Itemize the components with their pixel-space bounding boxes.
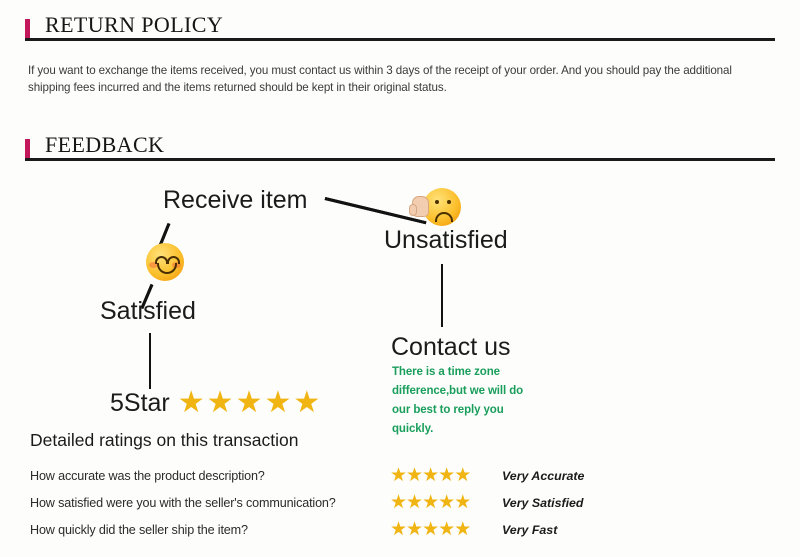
rating-stars: ★★★★★ [390,520,502,540]
return-policy-divider [25,38,775,41]
five-star-label: 5Star [110,389,170,418]
detailed-ratings-title: Detailed ratings on this transaction [30,430,298,451]
star-icon: ★ [422,465,438,486]
return-policy-body: If you want to exchange the items receiv… [28,62,740,96]
flow-connector-unsatisfied-to-contact [441,264,443,327]
detailed-ratings-table: How accurate was the product description… [30,462,650,543]
flow-node-receive-item: Receive item [163,186,308,215]
timezone-note: There is a time zone difference,but we w… [392,363,532,439]
rating-stars: ★★★★★ [390,466,502,486]
star-icon: ★ [207,388,234,418]
rating-question: How quickly did the seller ship the item… [30,523,390,537]
star-icon: ★ [178,388,205,418]
smiling-face-icon [146,243,184,281]
star-icon: ★ [438,519,454,540]
rating-stars: ★★★★★ [390,493,502,513]
table-row: How quickly did the seller ship the item… [30,516,650,543]
feedback-page: RETURN POLICY If you want to exchange th… [0,0,800,557]
star-icon: ★ [422,519,438,540]
flow-node-unsatisfied: Unsatisfied [384,226,508,255]
star-icon: ★ [406,519,422,540]
rating-value: Very Fast [502,523,557,537]
flow-node-satisfied: Satisfied [100,297,196,326]
table-row: How satisfied were you with the seller's… [30,489,650,516]
star-icon: ★ [406,465,422,486]
table-row: How accurate was the product description… [30,462,650,489]
feedback-header: FEEDBACK [25,134,775,168]
star-icon: ★ [390,492,406,513]
accent-bar [25,19,30,39]
rating-question: How satisfied were you with the seller's… [30,496,390,510]
star-icon: ★ [264,388,291,418]
star-icon: ★ [422,492,438,513]
accent-bar [25,139,30,159]
frowning-face-with-hand-icon [423,188,461,226]
star-icon: ★ [454,519,470,540]
star-icon: ★ [438,492,454,513]
rating-value: Very Accurate [502,469,584,483]
star-icon: ★ [454,465,470,486]
star-icon: ★ [236,388,263,418]
return-policy-title: RETURN POLICY [45,12,223,38]
star-icon: ★ [293,388,320,418]
feedback-divider [25,158,775,161]
rating-value: Very Satisfied [502,496,584,510]
raised-hand-icon [412,196,429,217]
star-icon: ★ [406,492,422,513]
feedback-title: FEEDBACK [45,132,164,158]
star-icon: ★ [390,519,406,540]
five-star-rating: 5Star ★ ★ ★ ★ ★ [110,388,320,418]
return-policy-header: RETURN POLICY [25,14,775,48]
flow-node-contact-us: Contact us [391,333,511,362]
flow-connector-satisfied-to-5star [149,333,151,389]
star-icon: ★ [390,465,406,486]
rating-question: How accurate was the product description… [30,469,390,483]
star-icon: ★ [454,492,470,513]
star-icon: ★ [438,465,454,486]
